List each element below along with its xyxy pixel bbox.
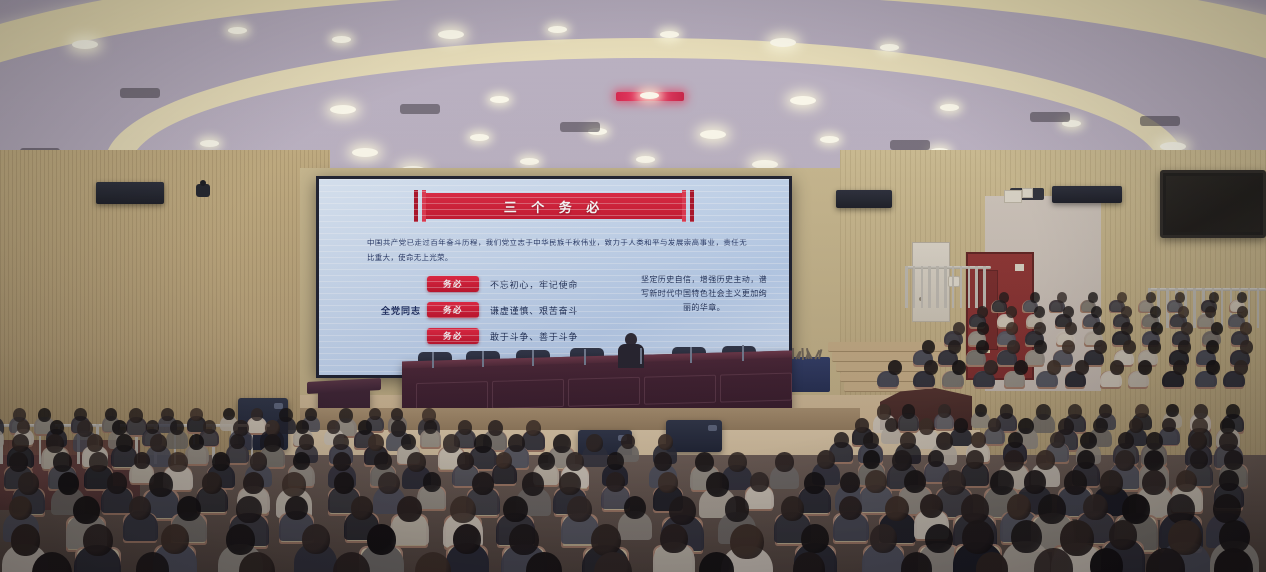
audience-head	[566, 452, 584, 471]
audience-head	[83, 524, 113, 556]
audience-head	[1011, 520, 1042, 553]
audience-head	[1117, 292, 1127, 303]
audience-head	[339, 408, 353, 423]
audience-head	[660, 524, 687, 553]
audience-head	[458, 420, 472, 435]
audience-head	[781, 496, 805, 521]
audience-head	[134, 452, 150, 469]
audience-head	[658, 434, 673, 450]
audience-head	[1121, 322, 1133, 335]
audience-head	[1211, 322, 1223, 335]
audience-head	[279, 408, 292, 422]
auditorium-photo: 三 个 务 必 中国共产党已走过百年奋斗历程，我们党立志于中华民族千秋伟业，致力…	[0, 0, 1266, 572]
audience-head	[1219, 470, 1238, 491]
audience-head	[801, 524, 829, 553]
audience-head	[11, 524, 41, 556]
audience-head	[299, 434, 314, 450]
audience-head	[367, 524, 396, 555]
audience-head	[730, 524, 763, 559]
audience-head	[107, 472, 128, 494]
audience-head	[669, 496, 697, 525]
audience-head	[1121, 306, 1132, 318]
audience-head	[1219, 432, 1237, 451]
audience-head	[1064, 470, 1087, 495]
audience-head	[161, 524, 189, 554]
audience-head	[1178, 340, 1191, 354]
audience-head	[1093, 322, 1105, 335]
audience-head	[1047, 360, 1061, 375]
audience-head	[804, 472, 825, 494]
audience-head	[1146, 432, 1163, 450]
audience-head	[1034, 322, 1046, 335]
audience-head	[725, 496, 749, 522]
audience-head	[526, 552, 561, 572]
audience-head	[302, 524, 330, 554]
audience-head	[1206, 360, 1220, 375]
audience-head	[423, 472, 442, 492]
table-microphone	[690, 347, 692, 363]
audience-head	[1206, 340, 1219, 354]
audience-head	[977, 306, 988, 318]
audience-head	[953, 322, 965, 335]
audience-head	[750, 472, 769, 492]
audience-head	[999, 292, 1009, 303]
audience-head	[443, 434, 461, 453]
audience-head	[1129, 418, 1143, 433]
audience-head	[407, 452, 426, 472]
audience-head	[553, 434, 570, 453]
audience-head	[150, 434, 167, 452]
audience	[0, 0, 1266, 572]
audience-head	[1209, 292, 1219, 303]
audience-head	[1062, 340, 1075, 354]
audience-head	[368, 434, 384, 451]
audience-head	[922, 340, 935, 354]
audience-head	[18, 472, 39, 495]
audience-head	[1007, 340, 1020, 354]
audience-head	[1006, 322, 1018, 335]
audience-head	[17, 420, 30, 434]
audience-head	[942, 470, 966, 495]
audience-head	[938, 404, 951, 418]
audience-head	[1144, 450, 1164, 471]
audience-head	[1118, 432, 1134, 449]
audience-head	[904, 470, 926, 493]
audience-head	[971, 432, 986, 448]
audience-head	[472, 472, 494, 495]
audience-head	[1173, 360, 1187, 375]
audience-head	[586, 434, 603, 452]
audience-head	[1030, 292, 1040, 303]
audience-head	[391, 408, 403, 421]
audience-head	[282, 472, 305, 497]
audience-head	[526, 420, 541, 436]
audience-head	[1034, 340, 1047, 354]
audience-head	[1000, 404, 1014, 419]
audience-head	[1226, 404, 1240, 419]
table-microphone	[482, 351, 484, 367]
audience-head	[924, 360, 938, 375]
audience-head	[1057, 292, 1067, 303]
audience-head	[863, 432, 879, 449]
audience-head	[1034, 306, 1045, 318]
audience-head	[1237, 292, 1247, 303]
audience-head	[236, 496, 261, 523]
audience-head	[919, 418, 935, 435]
audience-head	[285, 496, 308, 520]
audience-head	[358, 420, 372, 435]
audience-head	[488, 420, 503, 436]
audience-head	[305, 408, 317, 421]
audience-head	[397, 496, 422, 522]
audience-head	[1068, 404, 1082, 419]
audience-head	[624, 496, 646, 519]
audience-head	[870, 524, 897, 553]
audience-head	[1093, 418, 1107, 433]
audience-head	[116, 434, 133, 452]
audience-head	[251, 408, 264, 421]
audience-head	[885, 418, 898, 432]
audience-head	[706, 472, 729, 497]
audience-head	[1109, 520, 1137, 550]
audience-head	[1080, 432, 1096, 449]
audience-head	[374, 452, 391, 470]
audience-head	[1148, 340, 1161, 354]
audience-head	[293, 452, 310, 470]
audience-head	[1224, 450, 1243, 470]
audience-head	[1008, 432, 1023, 448]
audience-head	[1018, 418, 1033, 434]
audience-head	[865, 470, 887, 493]
audience-head	[990, 470, 1014, 495]
audience-head	[975, 404, 987, 417]
audience-head	[333, 434, 348, 450]
audience-head	[53, 452, 72, 472]
audience-head	[888, 360, 902, 375]
table-microphone	[584, 349, 586, 365]
audience-head	[1110, 360, 1124, 375]
audience-head	[1038, 494, 1066, 524]
audience-head	[1100, 470, 1123, 495]
audience-head	[1194, 404, 1208, 419]
audience-head	[936, 432, 953, 450]
audience-head	[12, 434, 29, 452]
audience-head	[1240, 322, 1252, 335]
audience-head	[230, 434, 245, 449]
audience-head	[378, 472, 399, 494]
audience-head	[892, 450, 912, 471]
audience-head	[223, 408, 235, 420]
audience-head	[1014, 360, 1028, 375]
audience-head	[1050, 432, 1065, 448]
audience-head	[1150, 306, 1161, 318]
audience-head	[977, 322, 989, 335]
audience-head	[1142, 470, 1166, 495]
audience-head	[1036, 404, 1051, 420]
audience-head	[129, 408, 143, 423]
audience-head	[334, 472, 355, 494]
audience-head	[243, 472, 264, 494]
audience-head	[952, 360, 966, 375]
audience-head	[1175, 292, 1185, 303]
audience-head	[1036, 450, 1055, 470]
audience-head	[1006, 306, 1017, 318]
audience-head	[839, 496, 862, 520]
table-microphone	[532, 350, 534, 366]
audience-head	[1099, 404, 1112, 418]
audience-head	[1063, 306, 1074, 318]
audience-head	[38, 408, 51, 422]
audience-head	[1007, 494, 1031, 520]
audience-head	[1237, 306, 1248, 318]
audience-head	[522, 472, 545, 496]
audience-head	[58, 472, 80, 495]
audience-head	[984, 360, 998, 375]
audience-head	[621, 434, 635, 449]
audience-head	[1178, 306, 1189, 318]
audience-head	[457, 452, 474, 470]
audience-head	[1240, 340, 1253, 354]
audience-head	[855, 418, 869, 433]
audience-head	[1166, 404, 1178, 417]
audience-head	[149, 472, 172, 497]
audience-head	[976, 340, 989, 354]
audience-head	[1065, 322, 1077, 335]
audience-head	[988, 418, 1001, 432]
audience-head	[817, 450, 835, 469]
audience-head	[1060, 520, 1094, 556]
audience-head	[50, 420, 64, 435]
audience-head	[1135, 404, 1148, 418]
audience-head	[1162, 418, 1175, 432]
audience-head	[863, 450, 881, 469]
audience-head	[146, 420, 159, 434]
audience-head	[250, 452, 268, 471]
audience-head	[1190, 432, 1207, 450]
audience-head	[401, 434, 416, 450]
audience-head	[538, 452, 555, 470]
audience-head	[508, 434, 525, 452]
audience-head	[202, 472, 222, 494]
audience-head	[264, 434, 281, 452]
audience-head	[189, 434, 204, 450]
audience-head	[453, 524, 481, 554]
audience-head	[1181, 322, 1193, 335]
audience-head	[105, 408, 117, 421]
audience-head	[87, 434, 104, 452]
audience-head	[840, 472, 860, 493]
audience-head	[9, 452, 28, 472]
audience-head	[450, 496, 476, 523]
audience-head	[885, 496, 909, 521]
audience-head	[226, 524, 256, 555]
audience-head	[962, 520, 994, 554]
table-microphone	[742, 345, 744, 361]
table-microphone	[640, 348, 642, 364]
audience-head	[168, 452, 187, 472]
audience-head	[1075, 360, 1089, 375]
audience-head	[1138, 360, 1152, 375]
audience-head	[46, 434, 64, 453]
audience-head	[1123, 340, 1136, 354]
audience-head	[567, 496, 592, 522]
audience-head	[775, 452, 794, 472]
audience-head	[559, 472, 581, 495]
audience-head	[1115, 450, 1135, 471]
audience-head	[658, 472, 678, 493]
audience-head	[920, 494, 943, 518]
audience-head	[1205, 306, 1216, 318]
audience-head	[607, 452, 624, 470]
audience-head	[474, 434, 492, 453]
audience-head	[89, 452, 108, 472]
audience-head	[954, 418, 968, 433]
audience-head	[1024, 470, 1046, 494]
audience-head	[1234, 360, 1248, 375]
audience-head	[177, 496, 200, 521]
audience-head	[1213, 494, 1240, 523]
audience-head	[728, 452, 747, 472]
audience-head	[834, 432, 849, 448]
audience-head	[212, 452, 230, 471]
audience-head	[129, 496, 152, 520]
audience-head	[203, 420, 216, 434]
audience-head	[606, 472, 625, 492]
audience-head	[1146, 292, 1156, 303]
audience-head	[925, 524, 953, 553]
audience-head	[496, 452, 512, 469]
audience-head	[333, 452, 351, 471]
audience-head	[190, 408, 202, 421]
audience-head	[1088, 292, 1098, 303]
audience-head	[161, 408, 173, 421]
audience-head	[948, 340, 961, 354]
audience-head	[1190, 450, 1208, 469]
audience-head	[1151, 322, 1163, 335]
audience-head	[73, 496, 100, 524]
audience-head	[296, 420, 309, 434]
audience-head	[1004, 450, 1024, 471]
audience-head	[1094, 340, 1107, 354]
audience-head	[327, 420, 340, 434]
audience-head	[351, 496, 373, 520]
audience-head	[509, 524, 538, 555]
audience-head	[1083, 494, 1108, 520]
audience-head	[902, 404, 916, 419]
audience-head	[503, 496, 528, 522]
table-microphone	[432, 352, 434, 368]
audience-head	[1077, 450, 1095, 469]
audience-head	[1091, 306, 1102, 318]
audience-head	[966, 450, 984, 469]
audience-head	[654, 452, 672, 471]
